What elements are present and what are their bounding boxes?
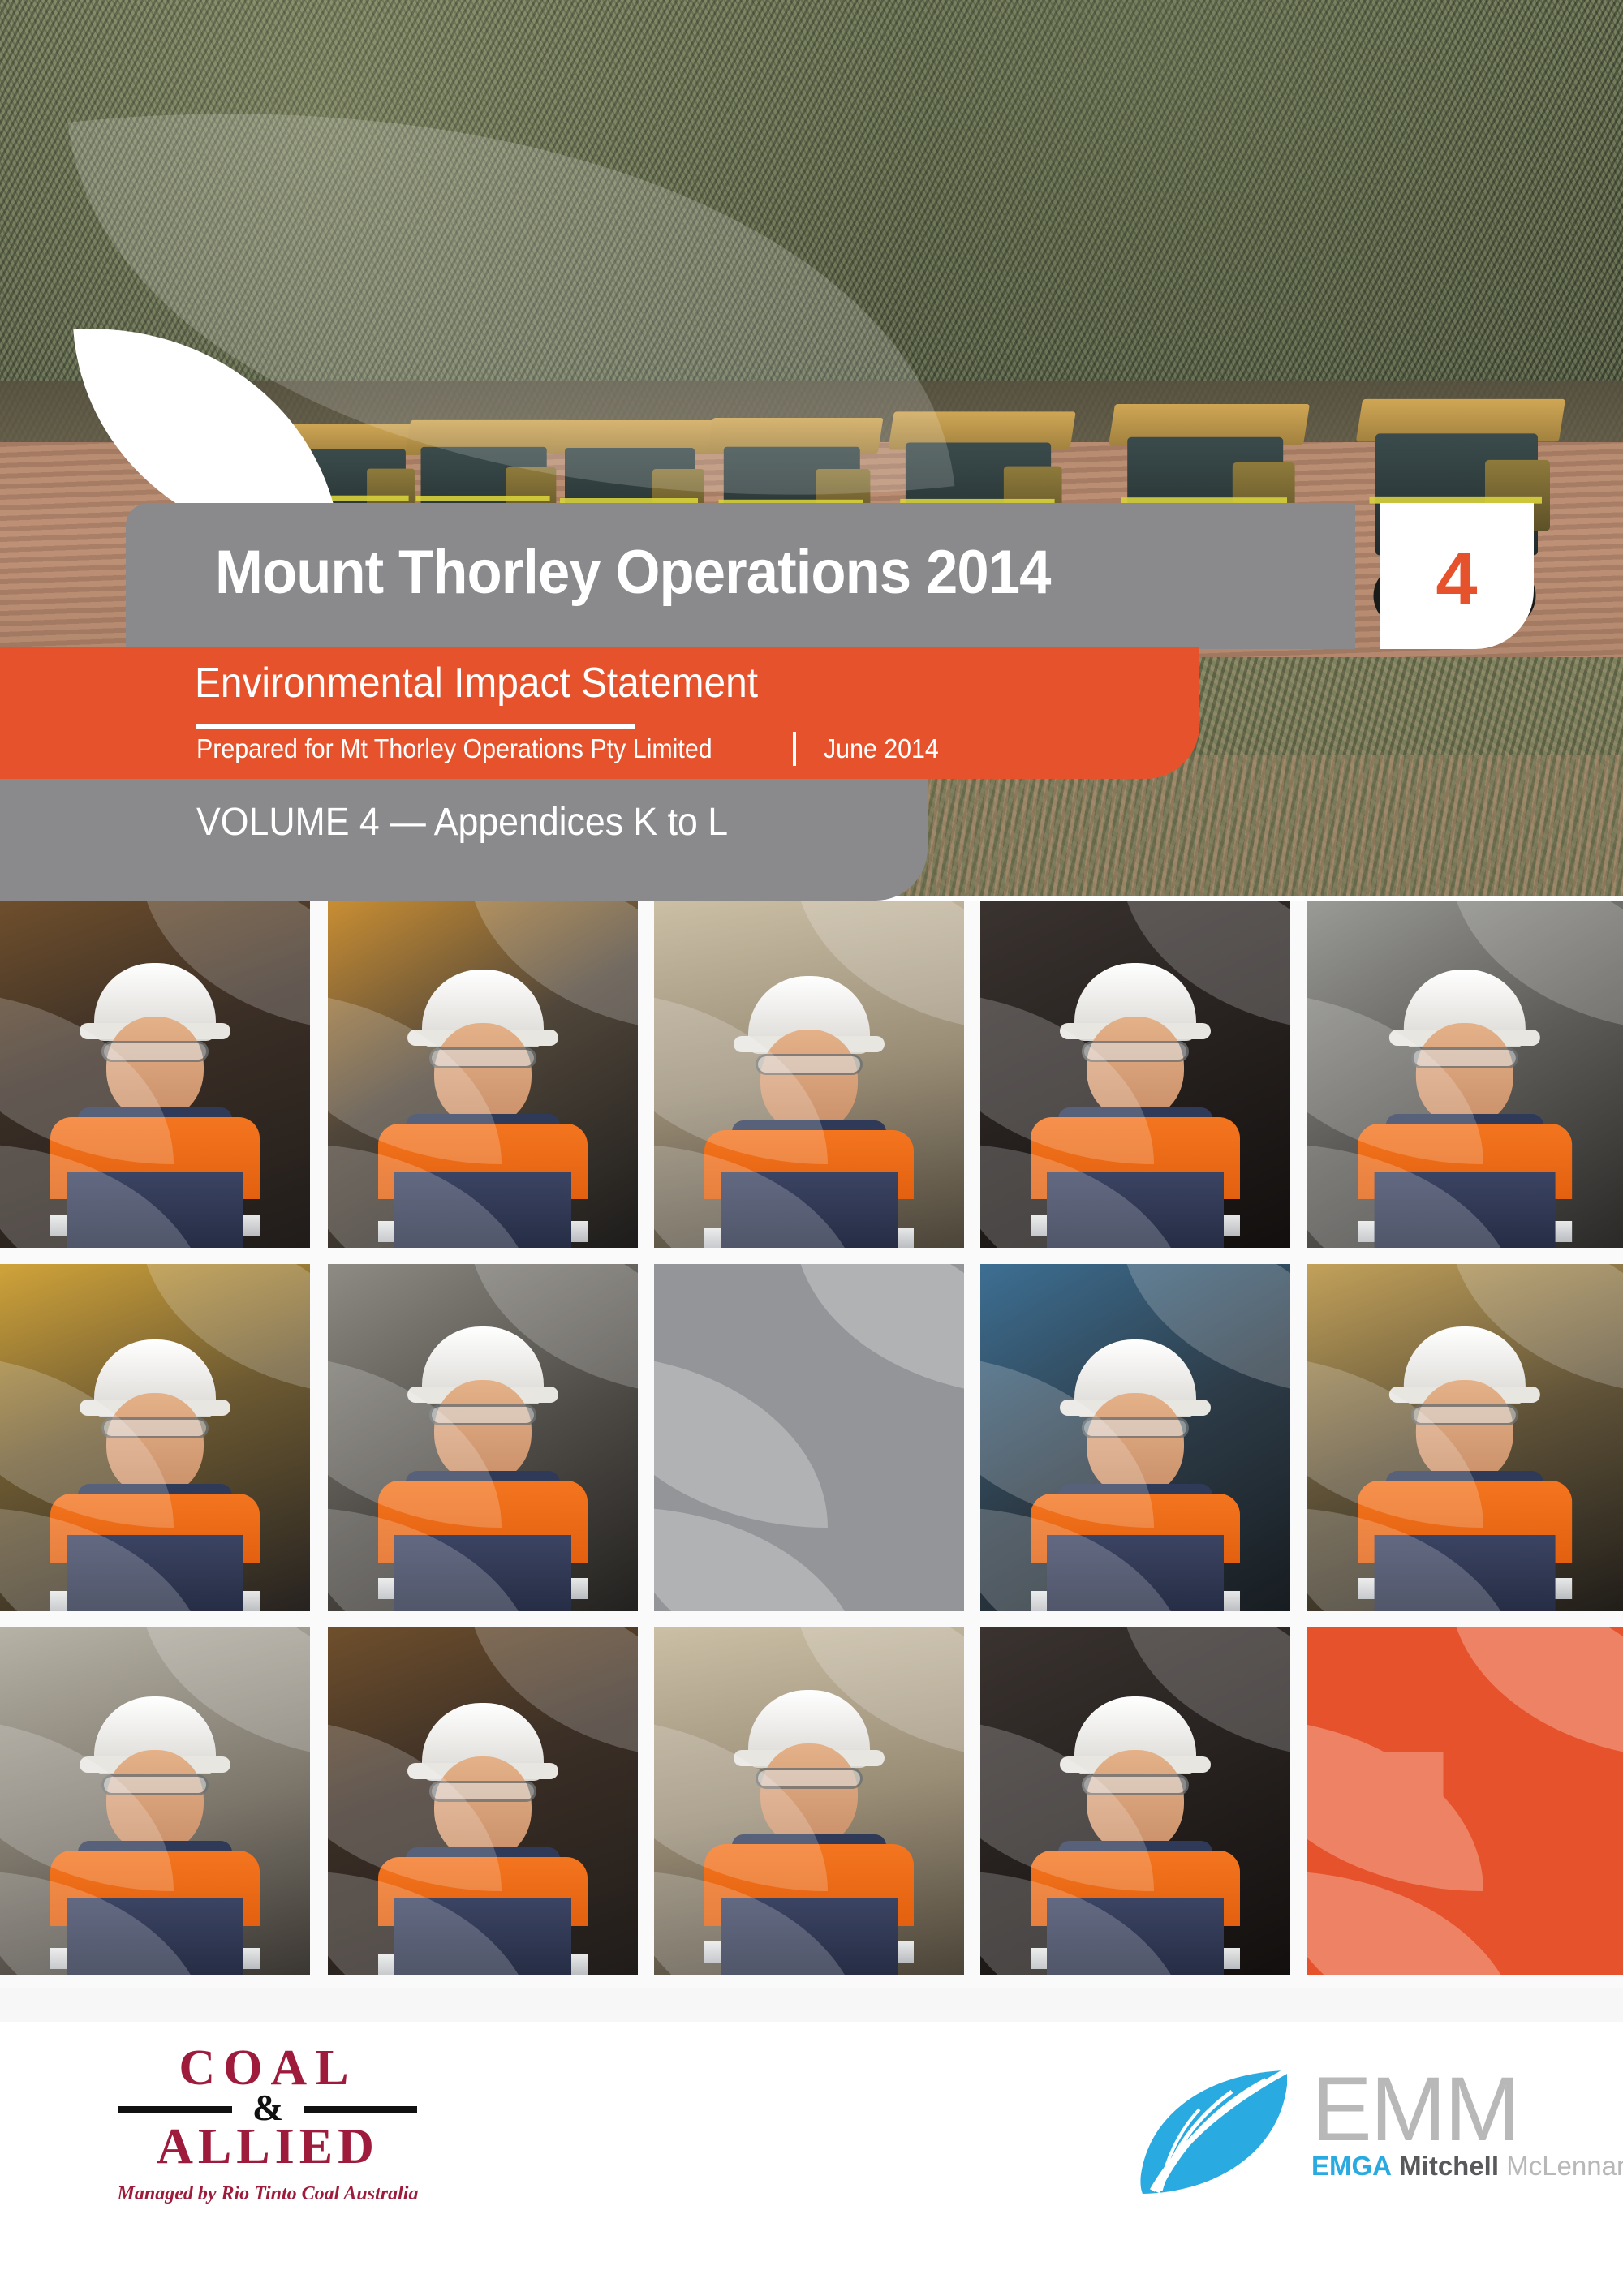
vertical-divider (793, 732, 796, 766)
worker-portrait-8 (980, 1264, 1290, 1611)
leaf-pattern-tile-orange (1307, 1627, 1623, 1975)
worker-figure (33, 928, 277, 1248)
photo-backdrop (328, 901, 638, 1248)
prepared-for-row: Prepared for Mt Thorley Operations Pty L… (196, 732, 949, 766)
ampersand-row: & (114, 2096, 422, 2120)
worker-face (434, 1380, 532, 1484)
coal-and-allied-logo: COAL & ALLIED Managed by Rio Tinto Coal … (114, 2044, 422, 2205)
worker-face (106, 1750, 204, 1854)
worker-figure (1341, 928, 1589, 1248)
worker-face (760, 1743, 858, 1847)
worker-glasses (101, 1041, 209, 1062)
worker-portrait-6 (0, 1264, 310, 1611)
coal-wordmark: COAL (114, 2044, 422, 2092)
worker-portrait-11 (328, 1627, 638, 1975)
worker-figure (361, 1292, 605, 1611)
worker-portrait-12 (654, 1627, 964, 1975)
volume-label: VOLUME 4 — Appendices K to L (196, 800, 728, 845)
worker-figure (33, 1655, 277, 1975)
photo-backdrop (0, 1627, 310, 1975)
worker-face (106, 1393, 204, 1497)
worker-portrait-1 (0, 901, 310, 1248)
leaf-shape-1-icon (794, 1264, 964, 1396)
coal-allied-tagline: Managed by Rio Tinto Coal Australia (114, 2183, 422, 2205)
logo-rule-left (118, 2106, 232, 2113)
mitchell-text: Mitchell (1399, 2151, 1499, 2181)
emga-text: EMGA (1311, 2151, 1392, 2181)
emm-wordmark: EMM EMGA Mitchell McLennan (1311, 2067, 1623, 2182)
photo-backdrop (654, 901, 964, 1248)
worker-face (1087, 1393, 1184, 1497)
photo-backdrop (328, 1627, 638, 1975)
photo-backdrop (980, 1627, 1290, 1975)
worker-portrait-3 (654, 901, 964, 1248)
worker-portrait-7 (328, 1264, 638, 1611)
worker-pants (1047, 1172, 1224, 1248)
emm-subtitle: EMGA Mitchell McLennan (1311, 2152, 1623, 2181)
worker-portrait-10 (0, 1627, 310, 1975)
ampersand: & (252, 2089, 283, 2126)
worker-pants (721, 1172, 898, 1248)
worker-face (1416, 1023, 1513, 1127)
photo-backdrop (328, 1264, 638, 1611)
worker-figure (1014, 928, 1257, 1248)
mclennan-text: McLennan (1506, 2151, 1623, 2181)
worker-pants (394, 1898, 571, 1975)
worker-figure (1014, 1292, 1257, 1611)
worker-figure (1014, 1655, 1257, 1975)
emm-letters: EMM (1311, 2070, 1623, 2148)
emm-leaf-icon (1136, 2067, 1290, 2197)
leaf-shape-2-icon (1307, 1718, 1483, 1891)
page-title: Mount Thorley Operations 2014 (215, 537, 1051, 608)
volume-number: 4 (1380, 542, 1534, 617)
worker-pants (1375, 1535, 1556, 1611)
leaf-shape-2-icon (654, 1354, 828, 1528)
photo-backdrop (980, 1264, 1290, 1611)
worker-face (434, 1756, 532, 1860)
subtitle-divider (196, 724, 635, 729)
worker-glasses (101, 1774, 209, 1795)
allied-wordmark: ALLIED (114, 2122, 422, 2172)
volume-number-badge: 4 (1380, 503, 1534, 649)
leaf-watermark-overlay (1307, 1627, 1623, 1975)
worker-figure (687, 928, 931, 1248)
worker-face (434, 1023, 532, 1127)
worker-pants (67, 1898, 243, 1975)
worker-pants (394, 1172, 571, 1248)
worker-portrait-13 (980, 1627, 1290, 1975)
worker-pants (1047, 1898, 1224, 1975)
worker-portrait-2 (328, 901, 638, 1248)
worker-pants (721, 1898, 898, 1975)
worker-figure (33, 1292, 277, 1611)
leaf-shape-3-icon (1307, 1871, 1522, 1975)
worker-portrait-4 (980, 901, 1290, 1248)
worker-pants (1047, 1535, 1224, 1611)
worker-glasses (1082, 1774, 1189, 1795)
worker-photo-grid (0, 901, 1623, 1988)
worker-portrait-5 (1307, 901, 1623, 1248)
worker-glasses (1411, 1404, 1518, 1425)
prepared-for-text: Prepared for Mt Thorley Operations Pty L… (196, 733, 712, 764)
worker-figure (687, 1655, 931, 1975)
photo-backdrop (1307, 901, 1623, 1248)
worker-glasses (756, 1054, 863, 1075)
worker-pants (67, 1172, 243, 1248)
leaf-shape-1-icon (1449, 1627, 1623, 1760)
worker-face (106, 1017, 204, 1120)
photo-backdrop (654, 1627, 964, 1975)
worker-pants (67, 1535, 243, 1611)
worker-face (1416, 1380, 1513, 1484)
leaf-watermark-overlay (654, 1264, 964, 1611)
leaf-shape-3-icon (654, 1507, 865, 1611)
worker-pants (1375, 1172, 1556, 1248)
worker-face (760, 1030, 858, 1133)
footer-divider (0, 1988, 1623, 2022)
document-subtitle: Environmental Impact Statement (195, 659, 758, 707)
worker-glasses (1082, 1041, 1189, 1062)
worker-glasses (1411, 1047, 1518, 1068)
worker-glasses (429, 1047, 536, 1068)
worker-pants (394, 1535, 571, 1611)
worker-glasses (429, 1781, 536, 1802)
worker-glasses (101, 1417, 209, 1438)
photo-backdrop (1307, 1264, 1623, 1611)
worker-figure (361, 928, 605, 1248)
leaf-pattern-tile-grey (654, 1264, 964, 1611)
worker-glasses (1082, 1417, 1189, 1438)
photo-backdrop (0, 901, 310, 1248)
photo-backdrop (0, 1264, 310, 1611)
logo-rule-right (304, 2106, 417, 2113)
worker-portrait-9 (1307, 1264, 1623, 1611)
photo-backdrop (980, 901, 1290, 1248)
worker-figure (361, 1655, 605, 1975)
worker-glasses (756, 1768, 863, 1789)
document-date: June 2014 (824, 733, 939, 764)
worker-face (1087, 1750, 1184, 1854)
worker-figure (1341, 1292, 1589, 1611)
worker-glasses (429, 1404, 536, 1425)
worker-face (1087, 1017, 1184, 1120)
emm-logo: EMM EMGA Mitchell McLennan (1136, 2067, 1623, 2197)
